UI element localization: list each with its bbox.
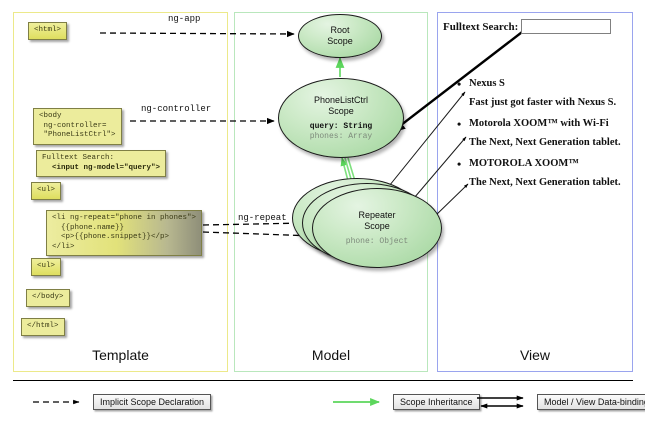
code-li-line2: {{phone.name}}: [52, 224, 124, 232]
code-box-html-open: <html>: [28, 22, 67, 40]
code-li-line3: <p>{{phone.snippet}}</p>: [52, 233, 169, 241]
scope-repeater-line2: Scope: [364, 221, 390, 232]
panel-view-title: View: [438, 347, 632, 363]
scope-ctrl-prop-phones: phones: Array: [310, 132, 372, 142]
scope-root-line2: Scope: [327, 36, 353, 47]
view-search-input[interactable]: [521, 19, 611, 34]
edge-label-ng-repeat: ng-repeat: [238, 213, 287, 223]
code-fulltext-input-tag: <input ng-model="query">: [42, 164, 160, 174]
panel-template-title: Template: [14, 347, 227, 363]
legend-label-databinding: Model / View Data-binding: [537, 394, 645, 410]
code-li-line1: <li ng-repeat="phone in phones">: [52, 214, 196, 222]
panel-model-title: Model: [235, 347, 427, 363]
list-item: Motorola XOOM™ with Wi-Fi The Next, Next…: [455, 118, 633, 148]
edge-label-ng-controller: ng-controller: [141, 104, 211, 114]
list-item-name: Nexus S: [455, 78, 633, 89]
list-item: Nexus S Fast just got faster with Nexus …: [455, 78, 633, 108]
code-box-html-close: </html>: [21, 318, 65, 336]
list-item-snippet: Fast just got faster with Nexus S.: [455, 97, 633, 108]
legend-label-implicit-scope: Implicit Scope Declaration: [93, 394, 211, 410]
view-search-label: Fulltext Search:: [443, 21, 518, 33]
scope-root-line1: Root: [330, 25, 349, 36]
legend-double-arrow-icon: [475, 394, 531, 410]
code-box-ul-close: <ul>: [31, 258, 61, 276]
legend-item-implicit-scope: Implicit Scope Declaration: [31, 394, 211, 410]
scope-repeater-front: Repeater Scope phone: Object: [312, 188, 442, 268]
legend-item-scope-inheritance: Scope Inheritance: [331, 394, 480, 410]
scope-ctrl-line1: PhoneListCtrl: [314, 95, 368, 106]
scope-ctrl-line2: Scope: [328, 106, 354, 117]
scope-phonelistctrl: PhoneListCtrl Scope query: String phones…: [278, 78, 404, 158]
code-box-ul-open: <ul>: [31, 182, 61, 200]
list-item: MOTOROLA XOOM™ The Next, Next Generation…: [455, 158, 633, 188]
view-phone-list: Nexus S Fast just got faster with Nexus …: [455, 78, 633, 198]
list-item-name: MOTOROLA XOOM™: [455, 158, 633, 169]
edge-label-ng-app: ng-app: [168, 14, 200, 24]
legend-label-scope-inheritance: Scope Inheritance: [393, 394, 480, 410]
scope-repeater-prop-phone: phone: Object: [346, 237, 408, 247]
scope-root: Root Scope: [298, 14, 382, 58]
list-item-snippet: The Next, Next Generation tablet.: [455, 137, 633, 148]
legend-green-arrow-icon: [331, 394, 387, 410]
legend: Implicit Scope Declaration Scope Inherit…: [13, 380, 633, 420]
legend-dashed-arrow-icon: [31, 394, 87, 410]
code-fulltext-label: Fulltext Search:: [42, 154, 114, 162]
code-li-line4: </li>: [52, 243, 75, 251]
scope-ctrl-prop-query: query: String: [310, 122, 372, 132]
legend-item-databinding: Model / View Data-binding: [475, 394, 645, 410]
scope-repeater-line1: Repeater: [358, 210, 395, 221]
list-item-name: Motorola XOOM™ with Wi-Fi: [455, 118, 633, 129]
diagram-canvas: Template Model View: [0, 0, 645, 425]
code-box-body-close: </body>: [26, 289, 70, 307]
code-box-fulltext-input: Fulltext Search:<input ng-model="query">: [36, 150, 166, 177]
code-box-body-open: <body ng-controller= "PhoneListCtrl">: [33, 108, 122, 145]
list-item-snippet: The Next, Next Generation tablet.: [455, 177, 633, 188]
code-box-li-repeat: <li ng-repeat="phone in phones"> {{phone…: [46, 210, 202, 256]
